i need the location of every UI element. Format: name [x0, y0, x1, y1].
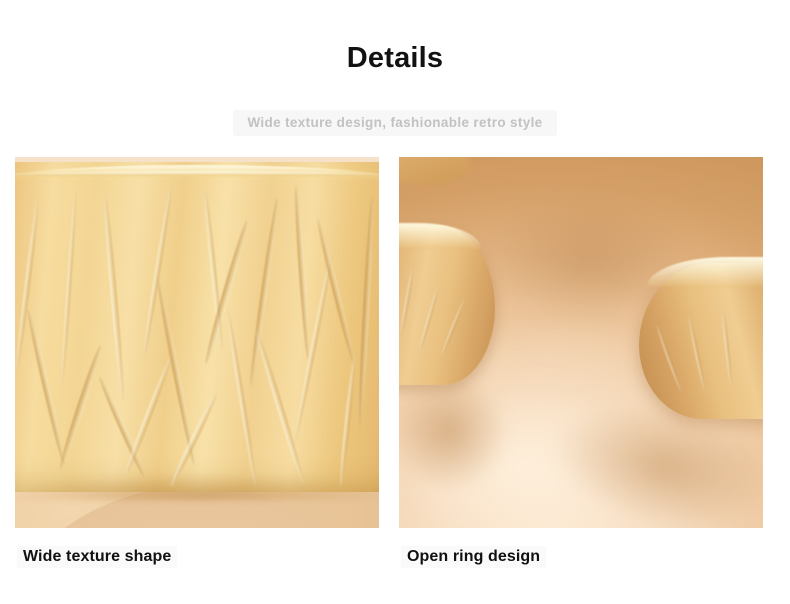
open-ring-design-illustration [399, 157, 763, 528]
caption-wide-texture-shape: Wide texture shape [17, 546, 177, 568]
product-details-page: Details Wide texture design, fashionable… [0, 0, 790, 604]
wide-texture-shape-illustration [15, 157, 379, 528]
page-title: Details [0, 42, 790, 75]
subtitle-chip: Wide texture design, fashionable retro s… [233, 110, 556, 136]
detail-image-grid [15, 157, 773, 528]
caption-open-ring-design: Open ring design [401, 546, 546, 568]
detail-photo-open-ring-design [399, 157, 763, 528]
detail-photo-wide-texture-shape [15, 157, 379, 528]
subtitle-container: Wide texture design, fashionable retro s… [0, 110, 790, 136]
